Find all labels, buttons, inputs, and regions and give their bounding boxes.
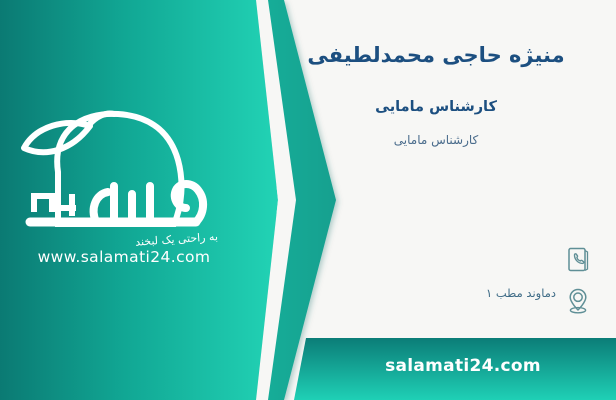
phone-book-icon[interactable] [558, 246, 598, 274]
business-card: به راحتی یک لبخند www.salamati24.com منی… [0, 0, 616, 400]
doctor-speciality: کارشناس مامایی [274, 99, 598, 115]
contact-list: دماوند مطب ۱ [256, 246, 616, 330]
location-pin-icon[interactable] [558, 286, 598, 316]
teal-panel [0, 0, 278, 400]
contact-row-phone[interactable] [256, 246, 616, 286]
doctor-name: منیژه حاجی محمدلطیفی [274, 42, 598, 69]
footer-website[interactable]: salamati24.com [310, 338, 616, 400]
contact-row-address[interactable]: دماوند مطب ۱ [256, 286, 616, 330]
address-value: دماوند مطب ۱ [486, 286, 556, 300]
doctor-speciality-detail: کارشناس مامایی [274, 133, 598, 147]
